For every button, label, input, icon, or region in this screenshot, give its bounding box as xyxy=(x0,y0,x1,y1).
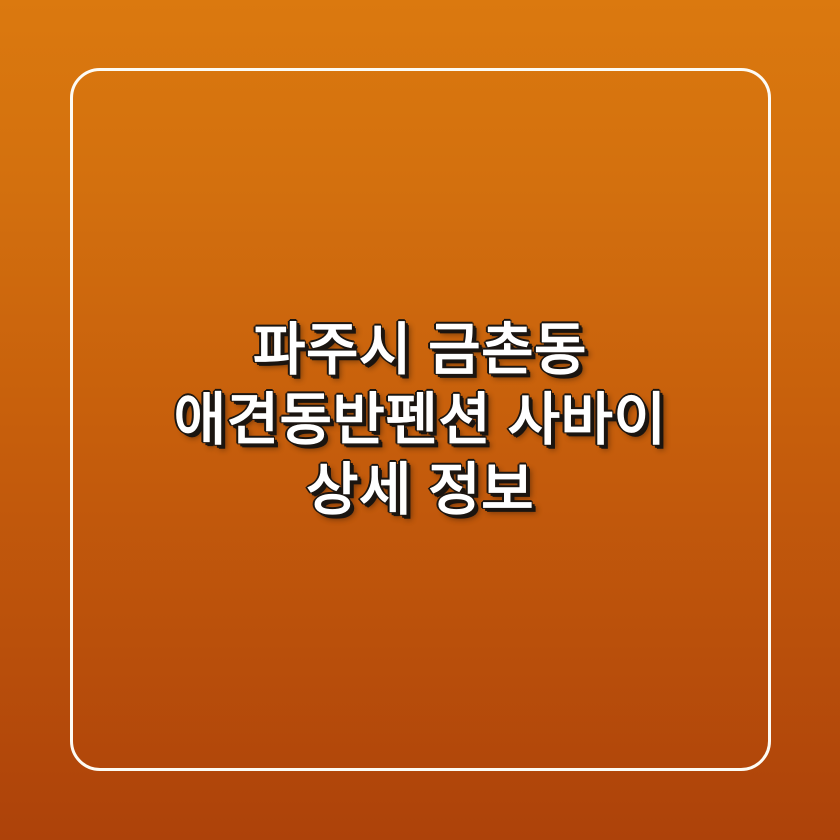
headline-line-3: 상세 정보 xyxy=(90,455,750,525)
headline-line-2: 애견동반펜션 사바이 xyxy=(90,385,750,455)
promo-banner: 파주시 금촌동 애견동반펜션 사바이 상세 정보 xyxy=(0,0,840,840)
banner-headline: 파주시 금촌동 애견동반펜션 사바이 상세 정보 xyxy=(90,315,750,525)
headline-line-1: 파주시 금촌동 xyxy=(90,315,750,385)
